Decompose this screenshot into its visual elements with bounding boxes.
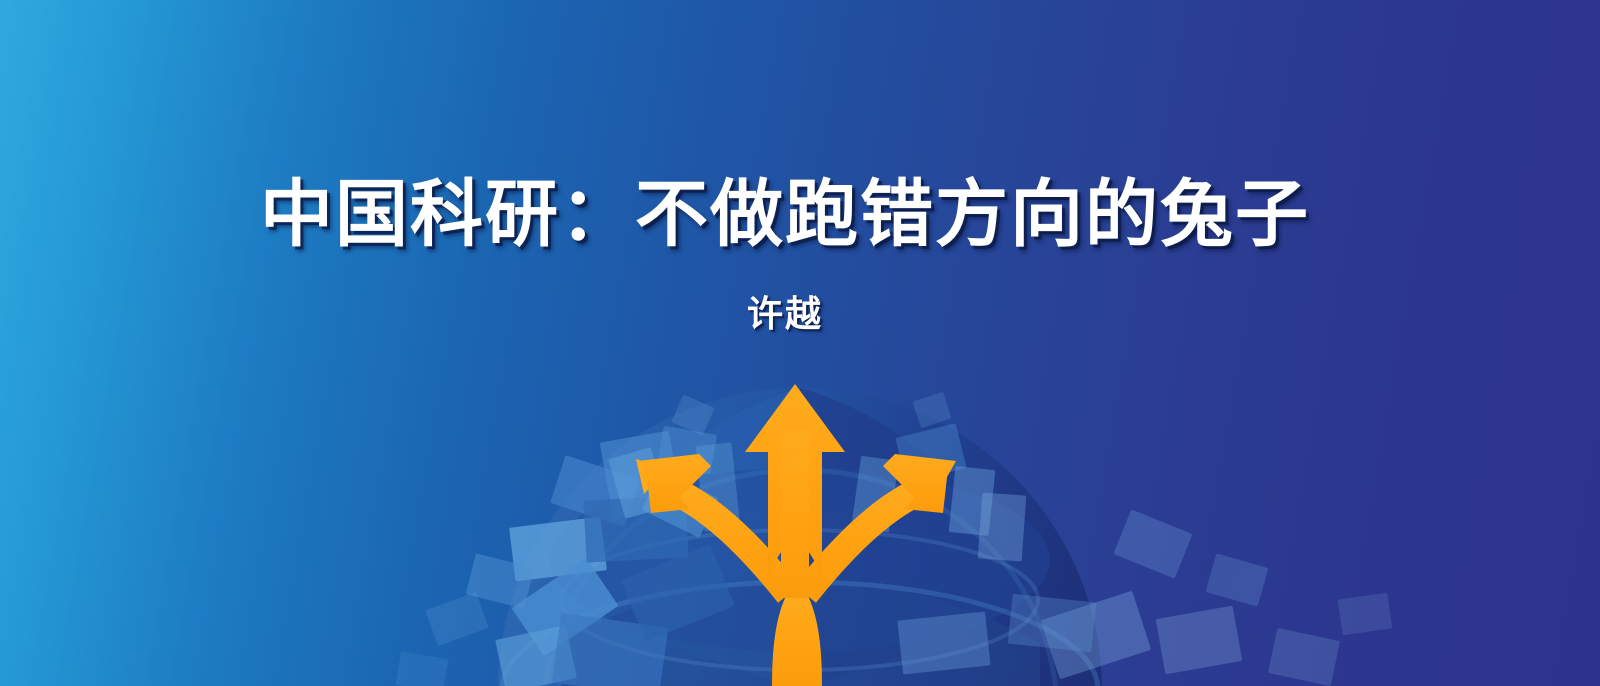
arrow-left-branch	[636, 459, 788, 592]
globe-shards-right	[897, 493, 1340, 686]
globe-meridian-line	[545, 470, 1056, 686]
arrow-trunk	[772, 592, 822, 686]
globe-shards-left	[466, 431, 735, 686]
globe-shards-top	[608, 423, 995, 536]
presentation-slide: 中国科研：不做跑错方向的兔子 许越	[0, 0, 1600, 686]
arrow-center	[745, 384, 845, 578]
arrow-left-head	[638, 454, 711, 513]
globe-wedge	[578, 388, 800, 686]
arrow-left-stem	[658, 484, 789, 594]
globe-latitude-band	[550, 468, 1050, 652]
slide-background-graphic	[0, 0, 1600, 686]
globe-shards-outer	[395, 392, 1392, 686]
arrow-right-stem	[805, 484, 936, 594]
arrow-right-head	[883, 454, 956, 513]
globe-sphere	[498, 388, 1102, 686]
arrow-center-shaft	[781, 430, 809, 598]
slide-author: 许越	[0, 296, 1570, 332]
globe-wedge	[562, 580, 1040, 686]
page-title: 中国科研：不做跑错方向的兔子	[0, 178, 1570, 251]
globe-latitude-line	[562, 530, 1038, 670]
three-way-arrow-graphic	[636, 384, 956, 686]
globe-equator-line	[502, 582, 1098, 686]
globe-wedge	[800, 388, 1026, 686]
